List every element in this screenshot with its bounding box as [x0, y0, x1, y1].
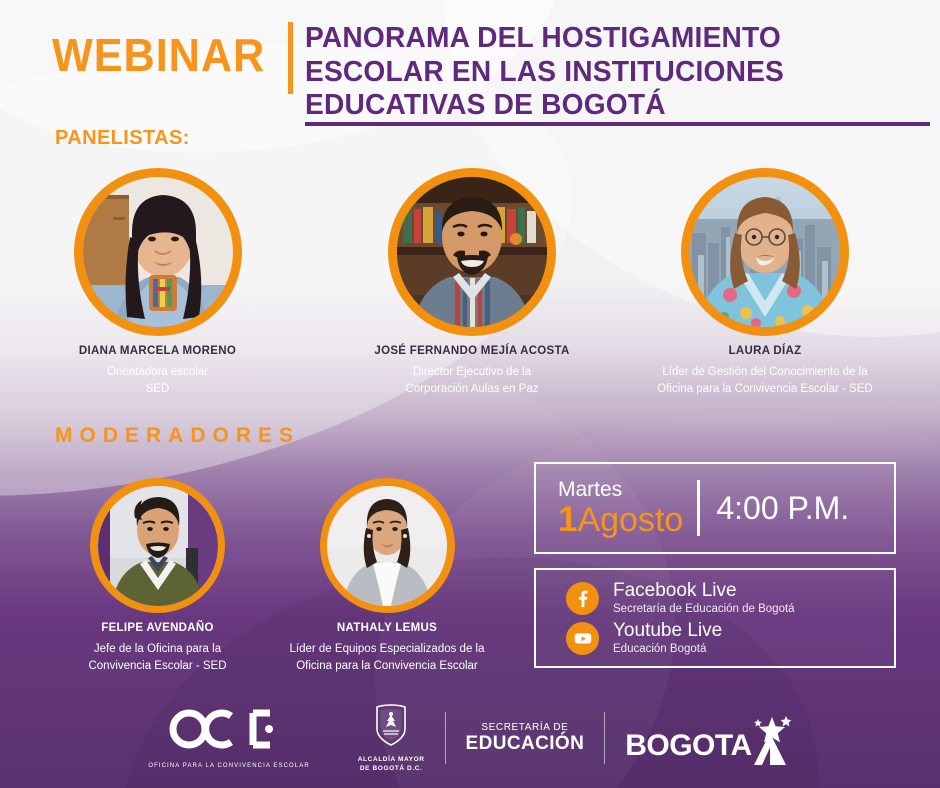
social-account: Educación Bogotá	[613, 643, 722, 656]
title-underline	[305, 122, 930, 126]
logo-bogota: BOGOTA	[625, 715, 791, 761]
social-row-facebook[interactable]: Facebook Live Secretaría de Educación de…	[566, 580, 894, 616]
moderator-role-line: Convivencia Escolar - SED	[40, 658, 275, 675]
datetime-box: Martes 1Agosto 4:00 P.M.	[534, 462, 896, 554]
avatar	[681, 168, 849, 336]
avatar	[320, 478, 455, 613]
alcaldia-caption: ALCALDÍA MAYOR DE BOGOTÁ D.C.	[358, 756, 425, 774]
social-platform: Youtube Live	[613, 620, 722, 641]
footer-logos: OFICINA PARA LA CONVIVENCIA ESCOLAR ALCA…	[0, 702, 940, 774]
bogota-star-icon	[748, 715, 792, 765]
panelist-name: JOSÉ FERNANDO MEJÍA ACOSTA	[348, 345, 596, 357]
time-label: 4:00 P.M.	[716, 490, 849, 527]
logo-separator	[604, 712, 605, 764]
month-name: Agosto	[577, 501, 683, 539]
title-line-3: EDUCATIVAS DE BOGOTÁ	[305, 89, 911, 123]
page-title: PANORAMA DEL HOSTIGAMIENTO ESCOLAR EN LA…	[305, 22, 930, 123]
moderator-name: FELIPE AVENDAÑO	[40, 622, 275, 634]
moderator-photo-felipe-avendano	[98, 486, 218, 606]
social-platform: Facebook Live	[613, 580, 795, 601]
panelist-photo-laura-diaz	[690, 177, 840, 327]
moderator-card: FELIPE AVENDAÑO Jefe de la Oficina para …	[40, 478, 275, 674]
panelist-role-line: Oficina para la Convivencia Escolar - SE…	[640, 381, 890, 398]
avatar	[74, 168, 242, 336]
moderator-role: Jefe de la Oficina para la Convivencia E…	[40, 641, 275, 674]
panelists-heading: PANELISTAS:	[55, 127, 190, 150]
social-text: Facebook Live Secretaría de Educación de…	[613, 580, 795, 616]
moderator-name: NATHALY LEMUS	[262, 622, 512, 634]
panelist-photo-diana-marcela-moreno	[83, 177, 233, 327]
logo-secretaria-educacion: SECRETARÍA DE EDUCACIÓN	[466, 722, 585, 755]
logo-separator	[445, 712, 446, 764]
panelist-role: Director Ejecutivo de la Corporación Aul…	[348, 364, 596, 397]
alcaldia-line-1: ALCALDÍA MAYOR	[358, 756, 425, 765]
moderator-role-line: Líder de Equipos Especializados de la	[262, 641, 512, 658]
panelist-role-line: Líder de Gestión del Conocimiento de la	[640, 364, 890, 381]
facebook-icon[interactable]	[566, 582, 599, 615]
panelist-role-line: SED	[45, 381, 270, 398]
bogota-wordmark: BOGOTA	[625, 731, 751, 761]
panelist-role-line: Orientadora escolar	[45, 364, 270, 381]
sed-top-line: SECRETARÍA DE	[466, 722, 585, 734]
datetime-separator	[697, 480, 700, 536]
panelist-card: LAURA DÍAZ Líder de Gestión del Conocimi…	[640, 168, 890, 397]
panelist-role: Líder de Gestión del Conocimiento de la …	[640, 364, 890, 397]
webinar-label: WEBINAR	[52, 28, 265, 82]
alcaldia-shield-icon	[372, 703, 410, 747]
moderator-role-line: Oficina para la Convivencia Escolar	[262, 658, 512, 675]
sed-main-line: EDUCACIÓN	[466, 734, 585, 755]
moderator-photo-nathaly-lemus	[327, 486, 447, 606]
date-group: Martes 1Agosto	[536, 479, 683, 537]
moderators-heading: MODERADORES	[55, 424, 300, 448]
panelist-photo-jose-fernando-mejia-acosta	[397, 177, 547, 327]
panelist-role-line: Director Ejecutivo de la	[348, 364, 596, 381]
date-label: 1Agosto	[558, 502, 683, 537]
panelist-name: LAURA DÍAZ	[640, 345, 890, 357]
oce-subtitle: OFICINA PARA LA CONVIVENCIA ESCOLAR	[148, 763, 309, 769]
youtube-icon[interactable]	[566, 622, 599, 655]
title-line-1: PANORAMA DEL HOSTIGAMIENTO	[305, 22, 911, 56]
moderator-role-line: Jefe de la Oficina para la	[40, 641, 275, 658]
logo-oce: OFICINA PARA LA CONVIVENCIA ESCOLAR	[148, 708, 309, 769]
panelist-role: Orientadora escolar SED	[45, 364, 270, 397]
panelist-card: JOSÉ FERNANDO MEJÍA ACOSTA Director Ejec…	[348, 168, 596, 397]
day-number: 1	[558, 500, 577, 539]
webinar-poster: WEBINAR PANORAMA DEL HOSTIGAMIENTO ESCOL…	[0, 0, 940, 788]
social-box: Facebook Live Secretaría de Educación de…	[534, 568, 896, 668]
avatar	[388, 168, 556, 336]
moderator-card: NATHALY LEMUS Líder de Equipos Especiali…	[262, 478, 512, 674]
panelist-name: DIANA MARCELA MORENO	[45, 345, 270, 357]
moderator-role: Líder de Equipos Especializados de la Of…	[262, 641, 512, 674]
social-row-youtube[interactable]: Youtube Live Educación Bogotá	[566, 620, 894, 656]
oce-wordmark	[148, 708, 309, 757]
logo-alcaldia-mayor: ALCALDÍA MAYOR DE BOGOTÁ D.C.	[358, 703, 425, 774]
social-text: Youtube Live Educación Bogotá	[613, 620, 722, 656]
weekday-label: Martes	[558, 479, 683, 500]
panelist-card: DIANA MARCELA MORENO Orientadora escolar…	[45, 168, 270, 397]
title-line-2: ESCOLAR EN LAS INSTITUCIONES	[305, 56, 911, 90]
alcaldia-line-2: DE BOGOTÁ D.C.	[358, 765, 425, 774]
avatar	[90, 478, 225, 613]
social-account: Secretaría de Educación de Bogotá	[613, 603, 795, 616]
panelist-role-line: Corporación Aulas en Paz	[348, 381, 596, 398]
header-divider	[288, 22, 293, 94]
